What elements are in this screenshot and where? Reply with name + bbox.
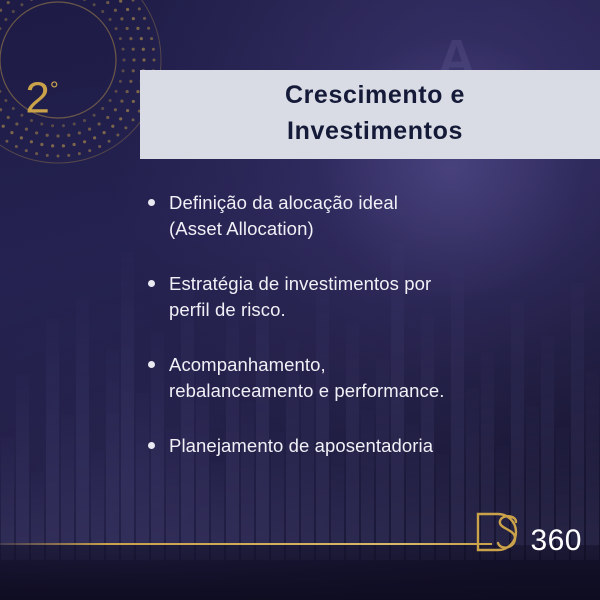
bullet-list: Definição da alocação ideal (Asset Alloc… — [148, 190, 568, 459]
list-item-text: Planejamento de aposentadoria — [169, 433, 433, 459]
list-item: Definição da alocação ideal (Asset Alloc… — [148, 190, 568, 243]
background-bar — [46, 318, 59, 560]
background-bar — [76, 296, 89, 560]
bullet-dot-icon — [148, 442, 155, 449]
gold-divider — [0, 543, 492, 545]
page-title: Crescimento e Investimentos — [225, 78, 525, 149]
degree-symbol: ° — [50, 77, 59, 102]
bullet-dot-icon — [148, 361, 155, 368]
list-item: Acompanhamento, rebalanceamento e perfor… — [148, 352, 568, 405]
background-bar — [61, 415, 74, 560]
slide-number: 2° — [14, 62, 70, 118]
slide-root: A 2° Crescimento e Investimentos Definiç… — [0, 0, 600, 600]
list-item-text: Definição da alocação ideal (Asset Alloc… — [169, 190, 398, 243]
logo-suffix: 360 — [530, 526, 582, 556]
list-item-text: Acompanhamento, rebalanceamento e perfor… — [169, 352, 445, 405]
logo: 360 — [472, 506, 582, 564]
background-bar — [16, 375, 29, 560]
background-bar — [586, 371, 599, 560]
background-bar — [106, 349, 119, 560]
list-item: Estratégia de investimentos por perfil d… — [148, 271, 568, 324]
list-item: Planejamento de aposentadoria — [148, 433, 568, 459]
bullet-dot-icon — [148, 280, 155, 287]
title-band: Crescimento e Investimentos — [140, 70, 600, 159]
background-bar — [1, 437, 14, 560]
bullet-dot-icon — [148, 199, 155, 206]
slide-number-value: 2 — [25, 74, 49, 123]
background-bar — [121, 252, 134, 560]
list-item-text: Estratégia de investimentos por perfil d… — [169, 271, 431, 324]
monogram-icon — [472, 506, 528, 564]
